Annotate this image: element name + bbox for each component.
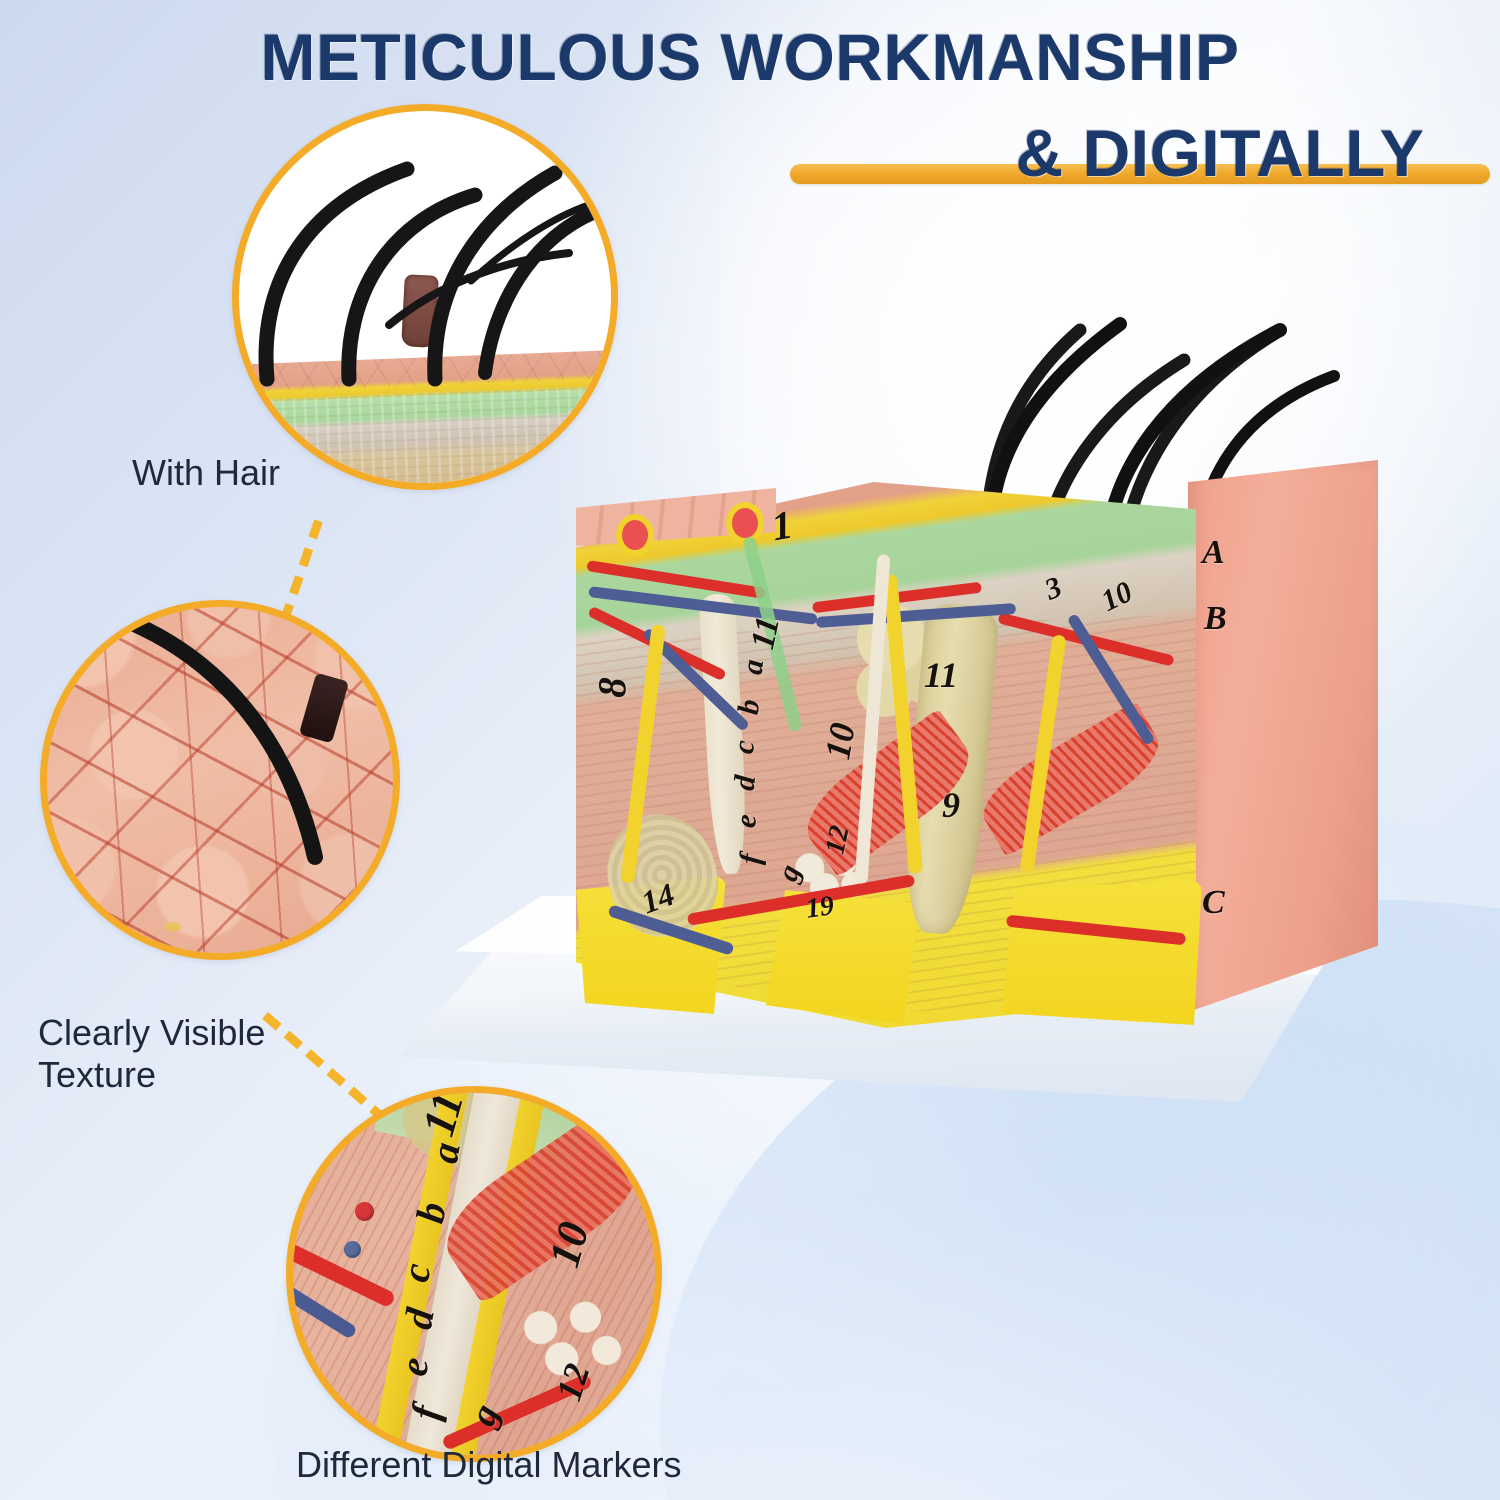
marker-11-right: 11 bbox=[924, 654, 958, 696]
layer-label-a: A bbox=[1202, 534, 1225, 572]
layer-label-c: C bbox=[1202, 884, 1225, 922]
meissner-corpuscle-2 bbox=[732, 508, 758, 538]
headline-line-2: & DIGITALLY bbox=[0, 120, 1500, 186]
markers-callout-venule-dot bbox=[344, 1241, 361, 1258]
marker-19: 19 bbox=[804, 890, 836, 926]
callout-circle-texture bbox=[40, 600, 400, 960]
texture-callout-hair-shaft bbox=[47, 607, 393, 953]
headline-line-1: METICULOUS WORKMANSHIP bbox=[0, 24, 1500, 90]
label-different-digital-markers: Different Digital Markers bbox=[296, 1444, 681, 1486]
meissner-corpuscle-1 bbox=[622, 520, 648, 550]
layer-label-b: B bbox=[1204, 600, 1227, 638]
hair-callout-hair-shafts bbox=[239, 111, 611, 483]
marker-10-left: 10 bbox=[816, 720, 864, 763]
callout-circle-with-hair bbox=[232, 104, 618, 490]
product-marketing-image: METICULOUS WORKMANSHIP & DIGITALLY bbox=[0, 0, 1500, 1500]
hypodermis-fat-lobule-3 bbox=[1002, 880, 1202, 1028]
skin-anatomy-model: 1 8 11 a b c d e f g 10 12 11 9 3 10 14 … bbox=[566, 424, 1326, 1024]
label-clearly-visible-texture: Clearly Visible Texture bbox=[38, 1012, 265, 1097]
marker-8: 8 bbox=[588, 677, 636, 699]
markers-callout-arteriole-dot bbox=[355, 1202, 374, 1221]
marker-9: 9 bbox=[942, 784, 960, 826]
callout-circle-markers: 11 a b c d e f g 10 12 bbox=[286, 1086, 662, 1462]
label-with-hair: With Hair bbox=[132, 452, 280, 494]
